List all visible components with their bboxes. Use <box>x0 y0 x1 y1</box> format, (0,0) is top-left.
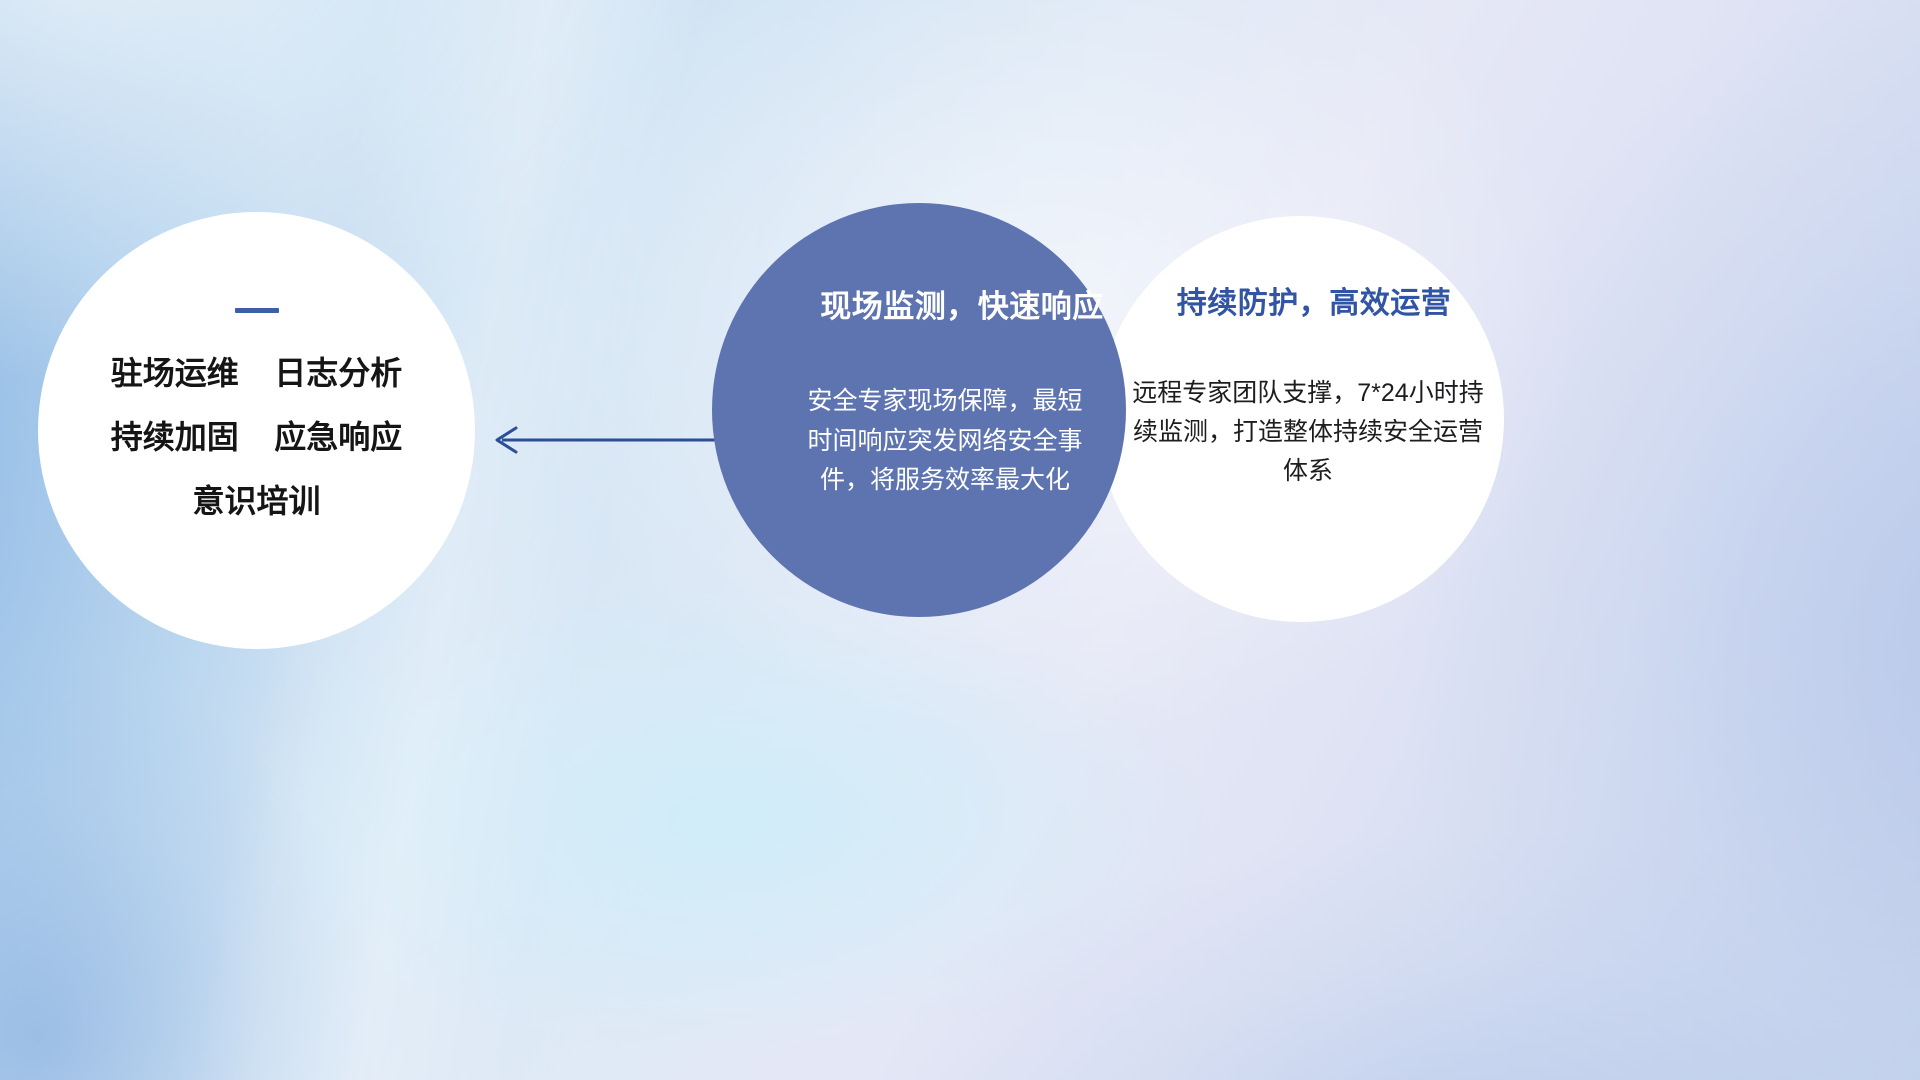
onsite-monitoring-body: 安全专家现场保障，最短时间响应突发网络安全事件，将服务效率最大化 <box>799 382 1091 501</box>
continuous-protection-body: 远程专家团队支撑，7*24小时持续监测，打造整体持续安全运营体系 <box>1132 374 1484 491</box>
onsite-monitoring-title: 现场监测，快速响应 <box>820 281 1104 326</box>
continuous-protection-title: 持续防护，高效运营 <box>1177 278 1452 322</box>
on-site-capability-circle[interactable]: 驻场运维 日志分析 持续加固 应急响应 意识培训 <box>38 212 475 649</box>
continuous-protection-circle[interactable]: 持续防护，高效运营 远程专家团队支撑，7*24小时持续监测，打造整体持续安全运营… <box>1098 216 1504 622</box>
slide-canvas: 驻场运维 日志分析 持续加固 应急响应 意识培训 持续防护，高效运营 远程专家团… <box>0 0 1920 1080</box>
list-item: 驻场运维 日志分析 <box>111 357 403 389</box>
onsite-monitoring-circle[interactable]: 现场监测，快速响应 安全专家现场保障，最短时间响应突发网络安全事件，将服务效率最… <box>712 203 1126 617</box>
capability-list: 驻场运维 日志分析 持续加固 应急响应 意识培训 <box>111 357 403 517</box>
dash-divider-icon <box>235 308 279 313</box>
list-item: 意识培训 <box>111 485 403 517</box>
left-pointing-arrow <box>480 412 720 468</box>
list-item: 持续加固 应急响应 <box>111 421 403 453</box>
